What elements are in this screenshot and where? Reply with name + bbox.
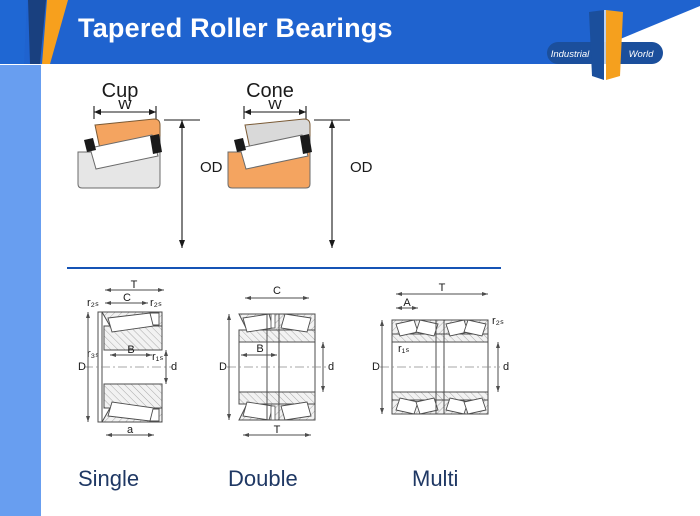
single-caption: Single [78, 466, 139, 492]
logo-vertical-blue [589, 10, 604, 80]
header-left-sliver [0, 0, 27, 64]
multi-inner-lower [392, 392, 488, 400]
multi-inner-upper [392, 334, 488, 342]
cone-rib-left [234, 138, 246, 152]
logo-right-label: World [629, 49, 655, 60]
single-dim-r2s-right: r₂ₛ [150, 297, 162, 309]
slide-canvas: Tapered Roller Bearings Industrial World… [0, 0, 700, 516]
single-dim-a: a [127, 424, 134, 436]
multi-dim-T: T [439, 282, 446, 294]
double-spacer-upper [271, 314, 275, 328]
double-dim-B: B [256, 343, 263, 355]
cup-width-label: W [118, 100, 133, 113]
single-dim-C: C [123, 292, 131, 304]
cone-od-label: OD [350, 159, 373, 176]
page-title: Tapered Roller Bearings [78, 13, 393, 44]
multi-dim-r1s: r₁ₛ [398, 343, 409, 355]
multi-dim-A: A [403, 297, 411, 309]
double-dim-C: C [273, 285, 281, 297]
logo-left-label: Industrial [551, 49, 590, 60]
single-dim-r3s: r₃ₛ [87, 348, 99, 360]
cup-rib-left [84, 138, 96, 152]
double-dim-D: D [219, 361, 227, 373]
cone-diagram: W OD [210, 100, 390, 260]
double-dim-T: T [274, 424, 281, 436]
logo-vertical-orange [606, 10, 623, 80]
single-dim-r2s-left: r₂ₛ [87, 297, 99, 309]
single-dim-T: T [131, 280, 138, 291]
double-spacer-lower [271, 406, 275, 420]
single-dim-d: d [171, 361, 177, 373]
brand-logo: Industrial World [545, 6, 665, 84]
multi-caption: Multi [412, 466, 458, 492]
multi-dim-d: d [503, 361, 509, 373]
multi-bearing-diagram: T A r₂ₛ r₁ₛ [358, 280, 518, 455]
single-dim-r1s: r₁ₛ [152, 351, 163, 363]
single-dim-B: B [127, 344, 134, 356]
single-dim-D: D [78, 361, 86, 373]
left-accent-band [0, 65, 41, 516]
single-bearing-diagram: T C r₂ₛ r₂ₛ r₃ₛ r₁ₛ [62, 280, 192, 455]
double-caption: Double [228, 466, 298, 492]
section-divider [67, 267, 501, 269]
double-dim-d: d [328, 361, 334, 373]
double-bearing-diagram: C B [205, 280, 345, 455]
multi-dim-r2s: r₂ₛ [492, 315, 504, 327]
cone-width-label: W [268, 100, 283, 113]
multi-dim-D: D [372, 361, 380, 373]
